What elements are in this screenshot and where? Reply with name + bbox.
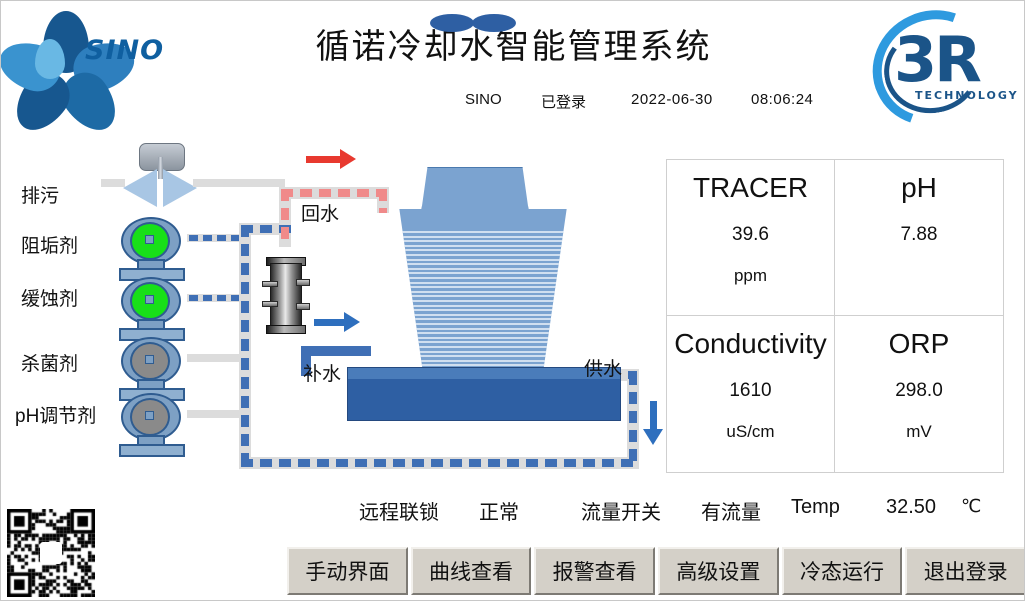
- remote-interlock-value: 正常: [479, 496, 519, 525]
- sidebar-item-label-ph-adjust: pH调节剂: [15, 401, 96, 428]
- pump-shaft-icon: [145, 355, 154, 364]
- pump-shaft-icon: [145, 235, 154, 244]
- hx-bottom-cap-icon: [266, 325, 306, 334]
- supply-pipe-bottom: [241, 459, 637, 467]
- measurement-value: 39.6: [732, 224, 769, 246]
- session-time: 08:06:24: [751, 91, 813, 108]
- status-row: 远程联锁 正常 流量开关 有流量 Temp 32.50 ℃: [1, 496, 1025, 528]
- measurement-cell-orp: ORP 298.0 mV: [835, 316, 1003, 472]
- dose-line-3: [187, 354, 247, 362]
- sidebar-item-label-blowdown: 排污: [21, 181, 59, 208]
- supply-pipe-right: [629, 373, 637, 463]
- fan-blade-right-icon: [472, 14, 516, 32]
- cold-standby-button[interactable]: 冷态运行: [782, 547, 903, 595]
- session-user: SINO: [465, 91, 502, 108]
- tower-louver: [394, 240, 572, 242]
- tower-louver: [394, 346, 572, 348]
- tower-louver: [394, 231, 572, 233]
- pump-base-icon: [119, 444, 185, 457]
- makeup-flow-arrow-shaft: [314, 319, 346, 326]
- valve-body-left-icon: [123, 169, 157, 207]
- return-flow-arrow-head: [340, 149, 356, 169]
- pump-shaft-icon: [145, 411, 154, 420]
- tower-louver: [394, 341, 572, 343]
- tower-louver: [394, 332, 572, 334]
- tower-louver: [394, 268, 572, 270]
- measurement-unit: mV: [906, 422, 932, 442]
- measurement-cell-conductivity: Conductivity 1610 uS/cm: [667, 316, 835, 472]
- 3r-tagline: TECHNOLOGY: [915, 89, 1019, 102]
- tower-louver: [394, 249, 572, 251]
- heat-exchanger[interactable]: [262, 253, 308, 337]
- tower-louver: [394, 305, 572, 307]
- measurement-name: ORP: [889, 329, 950, 360]
- qr-code: [7, 509, 95, 597]
- tower-louver: [394, 309, 572, 311]
- advanced-settings-button[interactable]: 高级设置: [658, 547, 779, 595]
- measurement-cell-tracer: TRACER 39.6 ppm: [667, 160, 835, 316]
- trend-view-button[interactable]: 曲线查看: [411, 547, 532, 595]
- flow-switch-label: 流量开关: [581, 496, 661, 525]
- cooling-tower-fan-housing: [421, 167, 529, 213]
- dose-line-4: [187, 410, 247, 418]
- action-button-bar: 手动界面 曲线查看 报警查看 高级设置 冷态运行 退出登录: [287, 547, 1025, 595]
- cooling-tower-body: [394, 209, 572, 369]
- measurement-value: 1610: [729, 380, 771, 402]
- pump-antiscalant[interactable]: [115, 217, 187, 279]
- label-supply-water: 供水: [584, 354, 622, 381]
- temperature-label: Temp: [791, 496, 840, 519]
- tower-louver: [394, 318, 572, 320]
- session-date: 2022-06-30: [631, 91, 713, 108]
- tower-louver: [394, 277, 572, 279]
- hx-nozzle-right-lower-icon: [296, 303, 310, 310]
- measurement-value: 298.0: [895, 380, 943, 402]
- pump-biocide[interactable]: [115, 337, 187, 399]
- qr-center-logo: [40, 542, 62, 564]
- makeup-flow-arrow-head: [344, 312, 360, 332]
- tower-louver: [394, 254, 572, 256]
- basin-waterline: [348, 368, 620, 379]
- tower-louver: [394, 351, 572, 353]
- sidebar-item-label-biocide: 杀菌剂: [21, 349, 78, 376]
- logout-button[interactable]: 退出登录: [905, 547, 1025, 595]
- cooling-tower-basin: [347, 367, 621, 421]
- tower-louver: [394, 236, 572, 238]
- makeup-pipe-horz: [301, 346, 371, 356]
- tower-louver: [394, 300, 572, 302]
- valve-body-right-icon: [163, 169, 197, 207]
- measurement-value: 7.88: [901, 224, 938, 246]
- hx-nozzle-left-lower-icon: [262, 301, 278, 307]
- sidebar-item-label-inhibitor: 缓蚀剂: [21, 284, 78, 311]
- tower-louver: [394, 272, 572, 274]
- pump-inhibitor[interactable]: [115, 277, 187, 339]
- measurement-panel: TRACER 39.6 ppm pH 7.88 Conductivity 161…: [666, 159, 1004, 473]
- blowdown-pipe-right: [193, 179, 285, 187]
- temperature-value: 32.50: [886, 496, 936, 519]
- tower-louver: [394, 245, 572, 247]
- tower-louver: [394, 286, 572, 288]
- tower-louver: [394, 291, 572, 293]
- alarm-view-button[interactable]: 报警查看: [534, 547, 655, 595]
- hx-shell-icon: [270, 263, 302, 329]
- label-makeup-water: 补水: [303, 359, 341, 386]
- return-pipe-down: [379, 189, 387, 213]
- measurement-unit: ppm: [734, 266, 767, 286]
- tower-louver: [394, 295, 572, 297]
- tower-louver: [394, 323, 572, 325]
- session-status: 已登录: [541, 91, 586, 112]
- tower-louver: [394, 263, 572, 265]
- hx-nozzle-right-upper-icon: [296, 279, 310, 286]
- measurement-unit: uS/cm: [726, 422, 774, 442]
- manual-interface-button[interactable]: 手动界面: [287, 547, 408, 595]
- flow-switch-value: 有流量: [701, 496, 761, 525]
- tower-louver: [394, 282, 572, 284]
- supply-flow-arrow-head: [643, 429, 663, 445]
- dose-line-2: [189, 295, 245, 301]
- tower-louver: [394, 259, 572, 261]
- tower-louver: [394, 328, 572, 330]
- temperature-unit: ℃: [961, 496, 981, 517]
- measurement-name: pH: [901, 173, 937, 204]
- hx-nozzle-left-upper-icon: [262, 281, 278, 287]
- tower-louver: [394, 360, 572, 362]
- supply-flow-arrow-shaft: [650, 401, 657, 431]
- label-return-water: 回水: [301, 199, 339, 226]
- measurement-name: TRACER: [693, 173, 808, 204]
- tower-louver: [394, 314, 572, 316]
- remote-interlock-label: 远程联锁: [359, 496, 439, 525]
- measurement-cell-ph: pH 7.88: [835, 160, 1003, 316]
- supply-pipe-left: [241, 225, 249, 461]
- pump-ph-adjust[interactable]: [115, 393, 187, 455]
- hmi-screen: SINO 3R TECHNOLOGY 循诺冷却水智能管理系统 SINO 已登录 …: [0, 0, 1025, 601]
- tower-louver: [394, 337, 572, 339]
- pump-shaft-icon: [145, 295, 154, 304]
- blowdown-valve[interactable]: [121, 143, 201, 203]
- sidebar-item-label-antiscalant: 阻垢剂: [21, 231, 78, 258]
- fan-blade-left-icon: [430, 14, 474, 32]
- dose-line-1: [189, 235, 245, 241]
- return-flow-arrow-shaft: [306, 156, 342, 163]
- tower-louver: [394, 355, 572, 357]
- measurement-name: Conductivity: [674, 329, 827, 360]
- return-pipe-vert: [281, 189, 289, 245]
- return-pipe-top: [281, 189, 387, 197]
- session-bar: SINO 已登录 2022-06-30 08:06:24: [431, 91, 911, 115]
- blowdown-pipe-left: [101, 179, 125, 187]
